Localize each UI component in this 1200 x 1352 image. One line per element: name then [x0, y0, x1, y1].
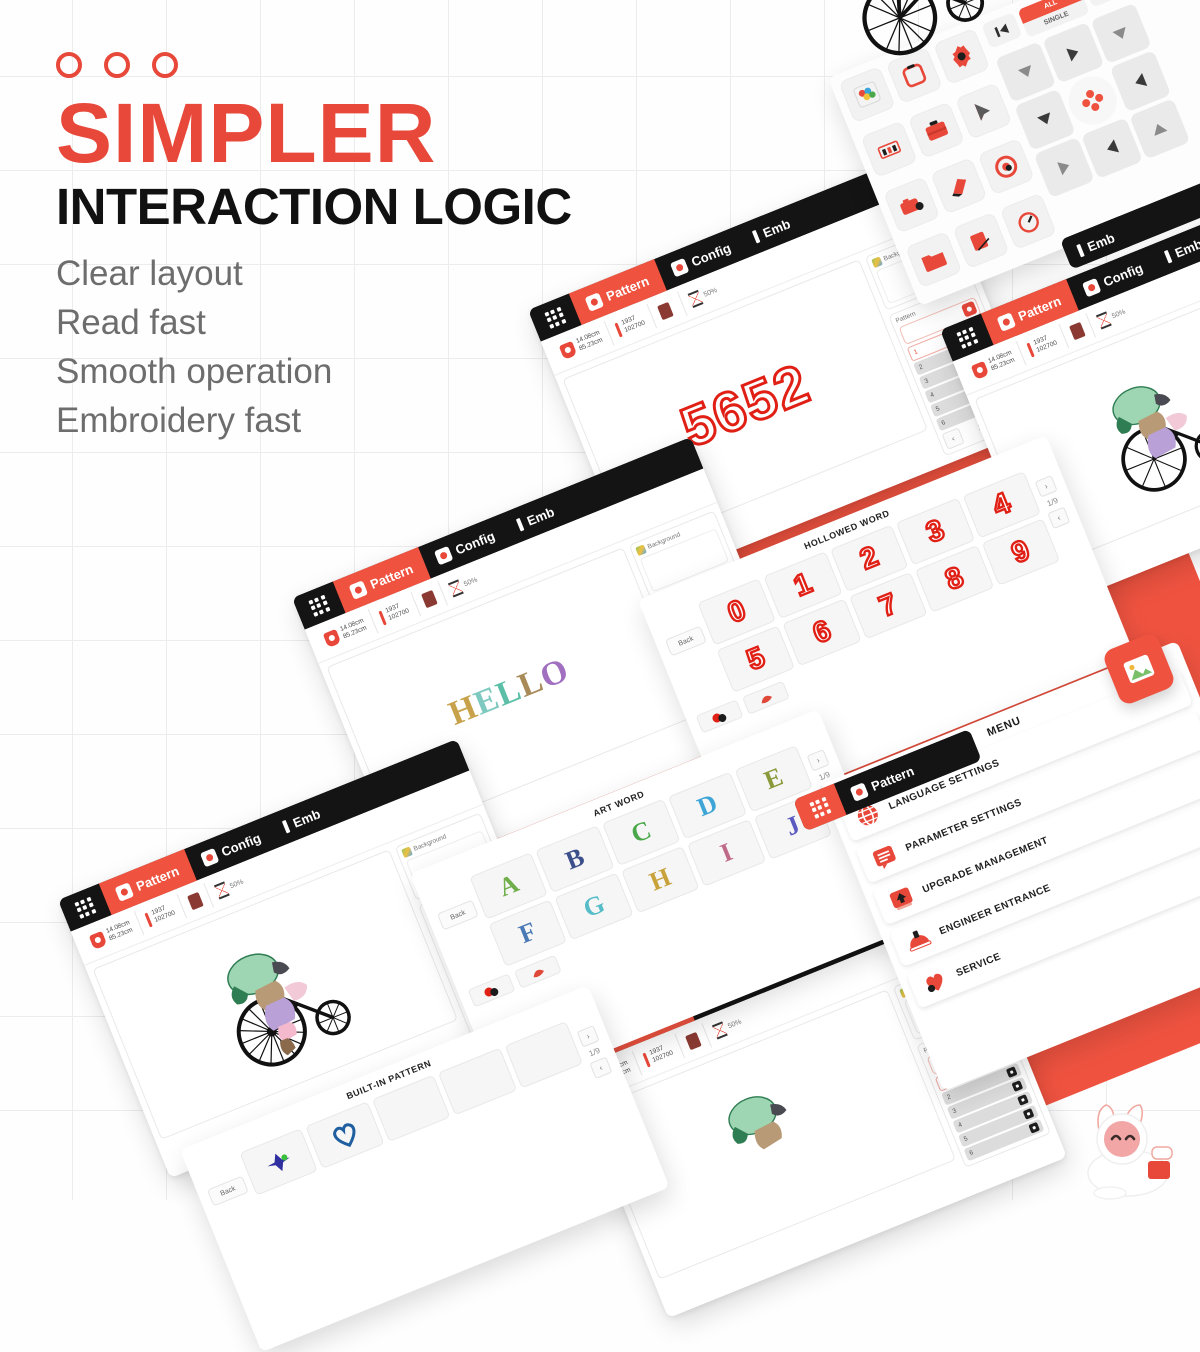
skip-forward-button[interactable] — [1083, 0, 1124, 8]
design-artwork-text: 5652 — [672, 350, 819, 460]
row-index: 6 — [968, 1149, 974, 1157]
thread-spool-icon — [187, 892, 204, 910]
grid-icon — [308, 594, 330, 616]
page-indicator: 1/9 — [1046, 496, 1060, 509]
needle-icon — [1076, 243, 1085, 257]
tab-emb-label: Emb — [1085, 230, 1117, 254]
grid-icon — [809, 796, 831, 818]
tab-pattern-label: Pattern — [1016, 293, 1063, 324]
triangle-icon — [1037, 112, 1054, 127]
pattern-chip-icon — [1006, 1066, 1018, 1078]
hourglass-icon — [447, 579, 463, 597]
target-icon[interactable] — [977, 138, 1034, 195]
flower-pattern-icon — [259, 1142, 298, 1181]
needle-icon — [752, 229, 761, 243]
page-title: SIMPLER — [56, 94, 572, 174]
row-index: 2 — [918, 364, 924, 372]
triangle-icon — [1113, 26, 1130, 41]
prev-page-button[interactable]: ‹ — [942, 427, 965, 450]
tab-pattern-label: Pattern — [604, 273, 651, 304]
thread-spool-icon — [1069, 322, 1086, 340]
triangle-icon — [1017, 65, 1034, 80]
headline-block: SIMPLER INTERACTION LOGIC Clear layout R… — [56, 52, 572, 440]
camera-icon — [114, 882, 134, 902]
needle-icon — [282, 819, 291, 833]
size-icon — [323, 628, 342, 647]
hourglass-icon — [1095, 311, 1111, 329]
page-subtitle: INTERACTION LOGIC — [56, 180, 572, 234]
folder-icon[interactable] — [905, 231, 962, 288]
page-indicator: 1/9 — [588, 1046, 602, 1059]
row-index: 1 — [913, 348, 919, 356]
grid-icon — [956, 326, 978, 348]
image-thumb-icon — [401, 846, 413, 858]
progress-percent: 50% — [463, 576, 479, 588]
shield-icon — [434, 545, 454, 565]
row-index: 6 — [940, 419, 946, 427]
tab-pattern-label: Pattern — [134, 863, 181, 894]
cyclist-artwork — [682, 1043, 864, 1225]
heart-icon — [920, 967, 951, 998]
heart-pattern-icon — [326, 1116, 364, 1153]
row-index: 4 — [957, 1121, 963, 1129]
row-index: 3 — [952, 1107, 958, 1115]
cyclist-artwork — [178, 897, 373, 1092]
camera-icon — [348, 580, 368, 600]
list-document-icon — [869, 841, 900, 872]
triangle-icon — [1057, 159, 1072, 176]
thread-chart-icon[interactable] — [861, 121, 918, 178]
row-index: 3 — [924, 377, 930, 385]
next-page-button[interactable]: › — [1035, 475, 1058, 498]
thread-spool-icon — [685, 1032, 702, 1050]
tab-config-label: Config — [689, 240, 733, 269]
dot-icon — [56, 52, 82, 78]
row-index: 2 — [946, 1094, 952, 1102]
feature-list: Clear layout Read fast Smooth operation … — [56, 255, 572, 439]
back-button[interactable]: Back — [665, 626, 707, 657]
tab-config-label: Config — [219, 830, 263, 859]
hourglass-icon — [213, 881, 229, 899]
image-thumb-icon — [871, 256, 883, 268]
progress-percent: 50% — [229, 878, 245, 890]
pattern-chip-icon — [1011, 1080, 1023, 1092]
list-item: Read fast — [56, 304, 572, 342]
center-flower-icon — [1078, 86, 1107, 115]
prev-page-button[interactable]: ‹ — [589, 1057, 612, 1080]
size-icon — [89, 930, 108, 949]
list-item: Clear layout — [56, 255, 572, 293]
prev-page-button[interactable]: ‹ — [1047, 507, 1070, 530]
pattern-chip-icon — [1023, 1108, 1035, 1120]
menu-item-label: SERVICE — [955, 951, 1003, 979]
dot-icon — [104, 52, 130, 78]
progress-percent: 50% — [703, 287, 719, 299]
tab-config-label: Config — [1101, 260, 1145, 289]
speed-icon[interactable] — [1000, 193, 1057, 250]
hourglass-icon — [711, 1021, 727, 1039]
toolbox-icon[interactable] — [908, 102, 965, 159]
progress-percent: 50% — [1111, 308, 1127, 320]
triangle-icon — [1151, 122, 1168, 137]
tab-emb-label: Emb — [291, 806, 323, 830]
decorative-dots — [56, 52, 572, 78]
shield-icon — [200, 847, 220, 867]
design-artwork-text: HELLO — [444, 651, 575, 733]
dot-icon — [152, 52, 178, 78]
triangle-icon — [1105, 140, 1120, 157]
eraser-icon[interactable] — [930, 157, 987, 214]
triangle-icon — [1066, 45, 1081, 62]
trim-icon[interactable] — [952, 212, 1009, 269]
hard-hat-icon — [903, 925, 934, 956]
next-page-button[interactable]: › — [807, 749, 830, 772]
hourglass-icon — [687, 290, 703, 308]
next-page-button[interactable]: › — [577, 1025, 600, 1048]
camera-icon — [996, 312, 1016, 332]
shield-icon — [1082, 277, 1102, 297]
camera-icon — [849, 782, 869, 802]
tab-pattern-label: Pattern — [368, 561, 415, 592]
needle-icon — [1164, 249, 1173, 263]
progress-percent: 50% — [727, 1018, 743, 1030]
triangle-icon — [1133, 73, 1148, 90]
back-button[interactable]: Back — [437, 900, 479, 931]
needle-icon — [516, 517, 525, 531]
tab-emb-label: Emb — [1173, 236, 1200, 260]
pattern-chip-icon — [1017, 1094, 1029, 1106]
camera-icon[interactable] — [883, 176, 940, 233]
row-index: 5 — [963, 1135, 969, 1143]
bunny-mascot — [1070, 1095, 1195, 1205]
list-item: Smooth operation — [56, 353, 572, 391]
tab-emb-label: Emb — [525, 504, 557, 528]
tab-config-label: Config — [453, 528, 497, 557]
upload-arrow-icon — [886, 883, 917, 914]
camera-icon — [584, 292, 604, 312]
tab-emb-label: Emb — [761, 216, 793, 240]
tab-pattern-label: Pattern — [869, 763, 916, 794]
image-icon — [1120, 651, 1158, 686]
shield-icon — [670, 257, 690, 277]
pointer-cursor-icon[interactable] — [955, 83, 1012, 140]
row-index: 4 — [929, 391, 935, 399]
list-item: Embroidery fast — [56, 402, 572, 440]
row-index: 5 — [935, 405, 941, 413]
pattern-chip-icon — [1028, 1122, 1040, 1134]
thread-spool-icon — [657, 302, 674, 320]
back-button[interactable]: Back — [207, 1176, 249, 1207]
picker-pagination: › 1/9 ‹ — [577, 1025, 613, 1079]
cyclist-artwork — [1066, 333, 1200, 515]
grid-icon — [74, 896, 96, 918]
image-thumb-icon — [635, 544, 647, 556]
size-icon — [971, 360, 990, 379]
thread-spool-icon — [421, 590, 438, 608]
